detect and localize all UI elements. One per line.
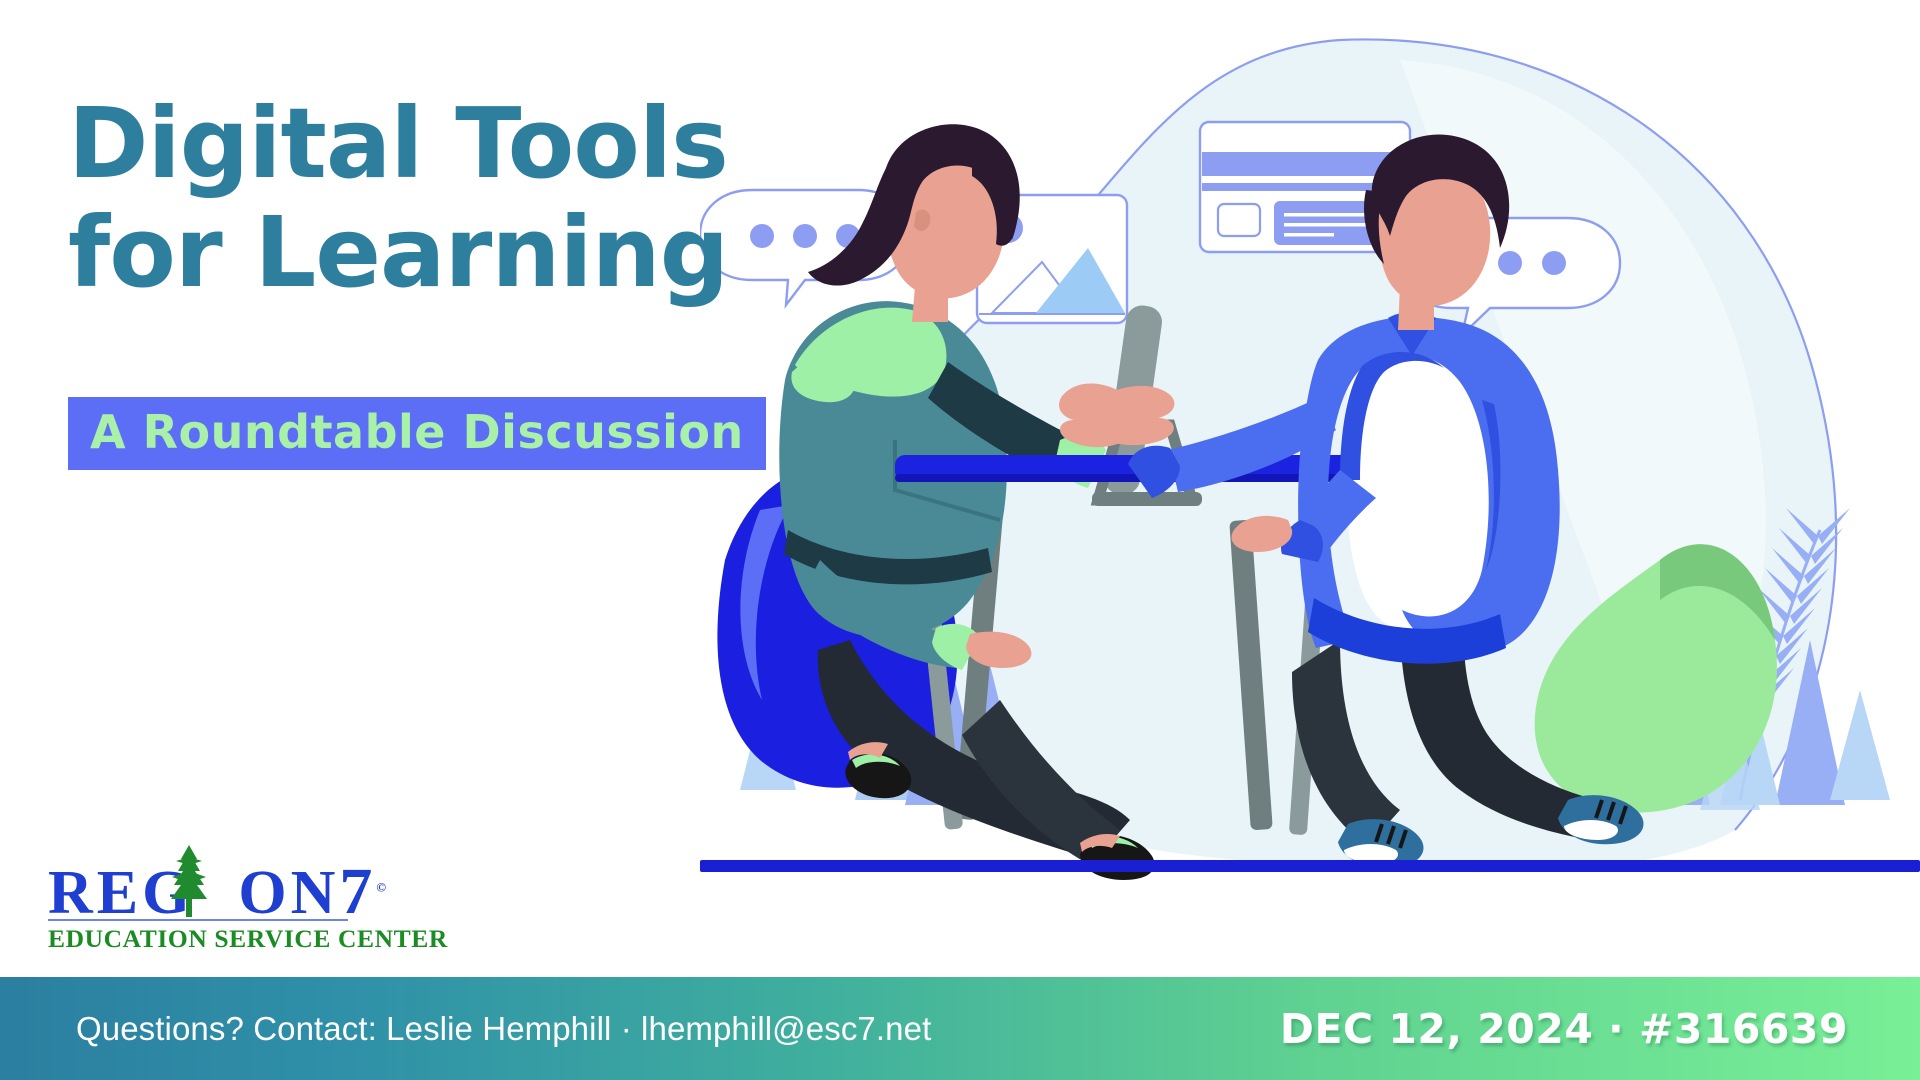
title-block: Digital Tools for Learning — [68, 90, 728, 307]
subtitle-text: A Roundtable Discussion — [90, 409, 744, 455]
logo-tagline: EDUCATION SERVICE CENTER — [48, 924, 378, 954]
subtitle-band: A Roundtable Discussion — [68, 397, 766, 470]
floor-line — [700, 860, 1920, 872]
footer-date-session: DEC 12, 2024 · #316639 — [1280, 1005, 1848, 1053]
title-line-2: for Learning — [68, 199, 728, 308]
logo-word: REGON7© — [48, 859, 390, 927]
pine-tree-icon — [166, 843, 212, 917]
illustration — [700, 0, 1920, 960]
logo-number: 7 — [339, 855, 376, 928]
region7-logo: REGON7© EDUCATION SERVICE CENTER — [48, 855, 378, 954]
logo-word-after: ON — [238, 859, 339, 927]
logo-registered-mark: © — [376, 879, 390, 894]
poster-canvas: Digital Tools for Learning A Roundtable … — [0, 0, 1920, 1080]
footer-contact-text: Questions? Contact: Leslie Hemphill · lh… — [76, 1010, 931, 1048]
logo-wordmark-row: REGON7© — [48, 855, 378, 923]
title-line-1: Digital Tools — [68, 90, 728, 199]
footer-bar: Questions? Contact: Leslie Hemphill · lh… — [0, 977, 1920, 1080]
